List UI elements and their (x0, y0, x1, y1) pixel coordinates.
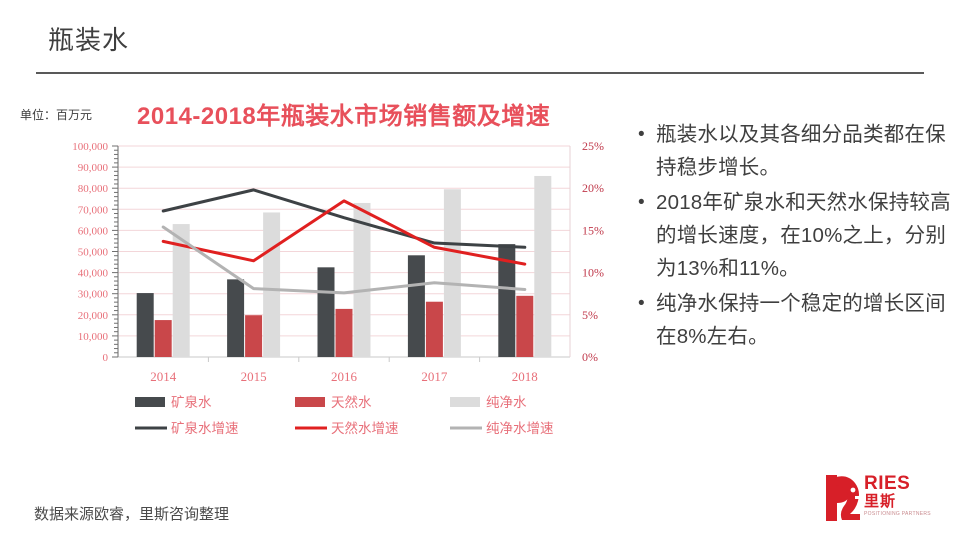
y-axis-left-tick-label: 0 (103, 352, 109, 364)
legend-swatch (135, 397, 165, 407)
y-axis-left-tick-label: 70,000 (78, 204, 109, 216)
y-axis-right-tick-label: 20% (582, 181, 604, 195)
chart-title: 2014-2018年瓶装水市场销售额及增速 (137, 96, 550, 131)
y-axis-left-tick-label: 30,000 (78, 289, 109, 301)
y-axis-right-tick-label: 10% (582, 266, 604, 280)
logo-brand-cn: 里斯 (864, 493, 931, 510)
y-axis-left-tick-label: 20,000 (78, 310, 109, 322)
x-axis-category-label: 2016 (331, 369, 358, 384)
bar-天然水 (155, 320, 172, 357)
bar-天然水 (426, 302, 443, 357)
legend-label: 天然水增速 (331, 420, 399, 436)
sales-growth-combo-chart: 010,00020,00030,00040,00050,00060,00070,… (0, 136, 640, 446)
bar-纯净水 (354, 203, 371, 357)
y-axis-left-tick-label: 60,000 (78, 225, 109, 237)
legend-swatch (450, 397, 480, 407)
bar-纯净水 (444, 189, 461, 357)
legend-label: 矿泉水增速 (171, 420, 239, 436)
logo-brand: RIES (864, 474, 931, 493)
bullet-dot-icon: • (636, 287, 656, 320)
list-item-text: 瓶装水以及其各细分品类都在保持稳步增长。 (656, 118, 954, 184)
y-axis-left-tick-label: 100,000 (72, 141, 108, 153)
bar-纯净水 (263, 212, 280, 357)
y-axis-left-tick-label: 10,000 (78, 331, 109, 343)
y-axis-left-tick-label: 50,000 (78, 247, 109, 259)
x-axis-category-label: 2017 (421, 369, 448, 384)
insights-list: •瓶装水以及其各细分品类都在保持稳步增长。•2018年矿泉水和天然水保持较高的增… (636, 118, 954, 355)
legend-swatch (295, 397, 325, 407)
x-axis-category-label: 2014 (150, 369, 177, 384)
chart-unit-label: 单位：百万元 (20, 106, 92, 123)
legend-item[interactable]: 矿泉水 (135, 394, 212, 410)
list-item-text: 纯净水保持一个稳定的增长区间在8%左右。 (656, 287, 954, 353)
y-axis-left-tick-label: 80,000 (78, 183, 109, 195)
x-axis-category-label: 2015 (241, 369, 267, 384)
x-axis-category-label: 2018 (512, 369, 538, 384)
page-title: 瓶装水 (48, 20, 129, 57)
ries-logo: RIES 里斯 POSITIONING PARTNERS (822, 473, 944, 525)
legend-item[interactable]: 纯净水 (450, 395, 527, 410)
legend-item[interactable]: 天然水增速 (295, 420, 399, 436)
legend-item[interactable]: 纯净水增速 (450, 421, 554, 436)
bar-矿泉水 (137, 293, 154, 357)
source-note: 数据来源欧睿，里斯咨询整理 (34, 503, 229, 524)
legend-item[interactable]: 天然水 (295, 394, 372, 410)
line-纯净水增速 (163, 227, 525, 293)
legend-item[interactable]: 矿泉水增速 (135, 420, 239, 436)
list-item-text: 2018年矿泉水和天然水保持较高的增长速度，在10%之上，分别为13%和11%。 (656, 186, 954, 285)
bar-天然水 (245, 315, 262, 357)
line-天然水增速 (163, 201, 525, 264)
legend-label: 纯净水 (486, 395, 527, 410)
y-axis-right-tick-label: 15% (582, 223, 604, 237)
logo-tagline: POSITIONING PARTNERS (864, 510, 931, 518)
legend-label: 纯净水增速 (486, 421, 554, 436)
line-矿泉水增速 (163, 190, 525, 247)
bar-天然水 (336, 309, 353, 357)
legend-label: 矿泉水 (171, 394, 212, 410)
bar-矿泉水 (318, 267, 335, 357)
bar-矿泉水 (227, 279, 244, 357)
y-axis-right-tick-label: 25% (582, 139, 604, 153)
list-item: •瓶装水以及其各细分品类都在保持稳步增长。 (636, 118, 954, 184)
bar-纯净水 (534, 176, 551, 357)
y-axis-right-tick-label: 0% (582, 350, 598, 364)
y-axis-left-tick-label: 90,000 (78, 162, 109, 174)
y-axis-left-tick-label: 40,000 (78, 268, 109, 280)
legend-label: 天然水 (331, 394, 372, 410)
y-axis-right-tick-label: 5% (582, 308, 598, 322)
list-item: •纯净水保持一个稳定的增长区间在8%左右。 (636, 287, 954, 353)
bar-天然水 (516, 296, 533, 357)
logo-text: RIES 里斯 POSITIONING PARTNERS (864, 474, 931, 518)
bar-矿泉水 (408, 255, 425, 357)
bullet-dot-icon: • (636, 186, 656, 219)
title-divider (36, 72, 924, 74)
bullet-dot-icon: • (636, 118, 656, 151)
ries-head-icon (822, 473, 866, 523)
list-item: •2018年矿泉水和天然水保持较高的增长速度，在10%之上，分别为13%和11%… (636, 186, 954, 285)
